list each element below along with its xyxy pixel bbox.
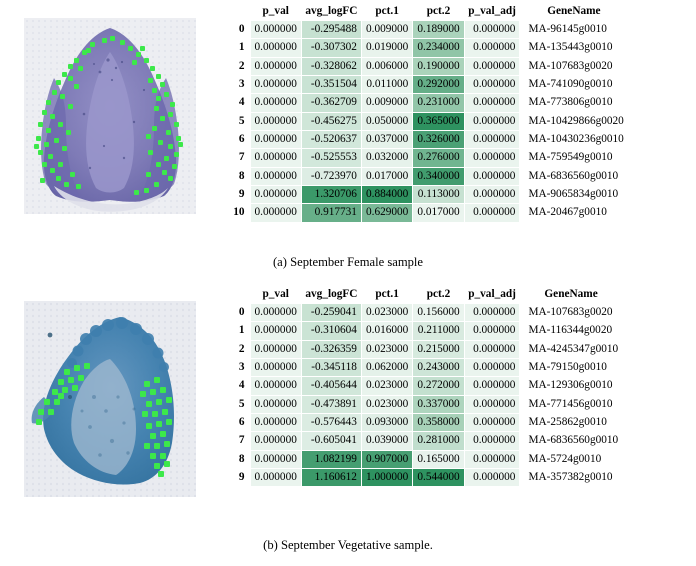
- cell-avg-logfc: -0.405644: [301, 377, 361, 395]
- row-index: 1: [220, 39, 250, 57]
- cell-genename: MA-135443g0010: [520, 39, 628, 57]
- cell-pct2: 0.243000: [413, 358, 464, 376]
- cell-p-val-adj: 0.000000: [464, 358, 520, 376]
- cell-p-val: 0.000000: [250, 322, 301, 340]
- cell-pct2: 0.272000: [413, 377, 464, 395]
- cell-p-val-adj: 0.000000: [464, 167, 520, 185]
- cell-pct1: 0.006000: [361, 57, 412, 75]
- col-header-pct1: pct.1: [361, 4, 412, 21]
- cell-pct1: 0.050000: [361, 112, 412, 130]
- cell-p-val: 0.000000: [250, 112, 301, 130]
- cell-genename: MA-759549g0010: [520, 149, 628, 167]
- row-index: 10: [220, 204, 250, 222]
- table-row: 70.000000-0.6050410.0390000.2810000.0000…: [220, 432, 622, 450]
- cell-avg-logfc: -0.576443: [301, 413, 361, 431]
- row-index: 4: [220, 377, 250, 395]
- cell-pct2: 0.234000: [413, 39, 464, 57]
- cell-pct2: 0.544000: [413, 468, 464, 486]
- cell-p-val: 0.000000: [250, 450, 301, 468]
- cell-p-val: 0.000000: [250, 57, 301, 75]
- cell-p-val-adj: 0.000000: [464, 204, 520, 222]
- cell-pct2: 0.365000: [413, 112, 464, 130]
- cell-avg-logfc: -0.351504: [301, 75, 361, 93]
- cell-avg-logfc: 1.082199: [301, 450, 361, 468]
- col-header-genename: GeneName: [520, 287, 622, 304]
- table-row: 70.000000-0.5255530.0320000.2760000.0000…: [220, 149, 628, 167]
- cell-pct1: 1.000000: [361, 468, 412, 486]
- table-row: 30.000000-0.3451180.0620000.2430000.0000…: [220, 358, 622, 376]
- row-index: 5: [220, 395, 250, 413]
- cell-pct2: 0.211000: [413, 322, 464, 340]
- table-body-vegetative: 00.000000-0.2590410.0230000.1560000.0000…: [220, 304, 622, 487]
- cell-p-val: 0.000000: [250, 395, 301, 413]
- cell-p-val-adj: 0.000000: [464, 21, 520, 39]
- cell-pct2: 0.276000: [413, 149, 464, 167]
- cell-avg-logfc: -0.525553: [301, 149, 361, 167]
- cell-pct1: 0.037000: [361, 130, 412, 148]
- cell-p-val-adj: 0.000000: [464, 340, 520, 358]
- row-index: 3: [220, 75, 250, 93]
- cell-p-val-adj: 0.000000: [464, 450, 520, 468]
- cell-pct1: 0.011000: [361, 75, 412, 93]
- figure-b-table-column: p_val avg_logFC pct.1 pct.2 p_val_adj Ge…: [220, 283, 696, 487]
- cell-avg-logfc: -0.362709: [301, 94, 361, 112]
- row-index: 1: [220, 322, 250, 340]
- table-row: 20.000000-0.3263590.0230000.2150000.0000…: [220, 340, 622, 358]
- row-index: 0: [220, 304, 250, 322]
- figure-b-image-column: [0, 283, 220, 497]
- cell-pct1: 0.023000: [361, 340, 412, 358]
- figure-a-caption: (a) September Female sample: [0, 247, 696, 270]
- cell-p-val-adj: 0.000000: [464, 377, 520, 395]
- cell-pct1: 0.032000: [361, 149, 412, 167]
- cell-pct1: 0.016000: [361, 322, 412, 340]
- cell-pct1: 0.009000: [361, 94, 412, 112]
- cell-p-val-adj: 0.000000: [464, 112, 520, 130]
- col-header-p-val-adj: p_val_adj: [464, 287, 520, 304]
- col-header-p-val-adj: p_val_adj: [464, 4, 520, 21]
- row-index: 7: [220, 149, 250, 167]
- cell-pct2: 0.017000: [413, 204, 464, 222]
- cell-pct2: 0.215000: [413, 340, 464, 358]
- cell-genename: MA-10429866g0020: [520, 112, 628, 130]
- table-row: 40.000000-0.4056440.0230000.2720000.0000…: [220, 377, 622, 395]
- cell-pct2: 0.337000: [413, 395, 464, 413]
- cell-p-val: 0.000000: [250, 130, 301, 148]
- cell-p-val-adj: 0.000000: [464, 432, 520, 450]
- cell-pct1: 0.019000: [361, 39, 412, 57]
- cell-avg-logfc: -0.295488: [301, 21, 361, 39]
- dataframe-table-vegetative: p_val avg_logFC pct.1 pct.2 p_val_adj Ge…: [220, 287, 622, 487]
- cell-p-val: 0.000000: [250, 377, 301, 395]
- dataframe-table-female: p_val avg_logFC pct.1 pct.2 p_val_adj Ge…: [220, 4, 628, 223]
- cell-p-val-adj: 0.000000: [464, 75, 520, 93]
- histology-micrograph-female: [24, 18, 196, 214]
- cell-p-val: 0.000000: [250, 468, 301, 486]
- row-index: 8: [220, 450, 250, 468]
- cell-genename: MA-116344g0020: [520, 322, 622, 340]
- col-header-avg-logfc: avg_logFC: [301, 287, 361, 304]
- cell-p-val: 0.000000: [250, 94, 301, 112]
- table-row: 50.000000-0.4562750.0500000.3650000.0000…: [220, 112, 628, 130]
- table-row: 10.000000-0.3106040.0160000.2110000.0000…: [220, 322, 622, 340]
- cell-genename: MA-9065834g0010: [520, 185, 628, 203]
- cell-p-val: 0.000000: [250, 39, 301, 57]
- table-row: 100.0000000.9177310.6290000.0170000.0000…: [220, 204, 628, 222]
- cell-genename: MA-25862g0010: [520, 413, 622, 431]
- cell-pct2: 0.358000: [413, 413, 464, 431]
- cell-pct2: 0.189000: [413, 21, 464, 39]
- cell-avg-logfc: 1.320706: [301, 185, 361, 203]
- cell-pct2: 0.326000: [413, 130, 464, 148]
- cell-genename: MA-6836560g0010: [520, 167, 628, 185]
- cell-genename: MA-20467g0010: [520, 204, 628, 222]
- table-row: 80.000000-0.7239700.0170000.3400000.0000…: [220, 167, 628, 185]
- table-row: 80.0000001.0821990.9070000.1650000.00000…: [220, 450, 622, 468]
- cell-pct1: 0.023000: [361, 304, 412, 322]
- cell-pct2: 0.156000: [413, 304, 464, 322]
- cell-pct1: 0.009000: [361, 21, 412, 39]
- cell-avg-logfc: 1.160612: [301, 468, 361, 486]
- cell-genename: MA-4245347g0010: [520, 340, 622, 358]
- cell-avg-logfc: -0.259041: [301, 304, 361, 322]
- cell-avg-logfc: -0.723970: [301, 167, 361, 185]
- cell-pct1: 0.629000: [361, 204, 412, 222]
- cell-pct1: 0.017000: [361, 167, 412, 185]
- cell-pct2: 0.281000: [413, 432, 464, 450]
- table-header-row: p_val avg_logFC pct.1 pct.2 p_val_adj Ge…: [220, 4, 628, 21]
- cell-pct2: 0.292000: [413, 75, 464, 93]
- cell-genename: MA-107683g0020: [520, 304, 622, 322]
- cell-p-val: 0.000000: [250, 413, 301, 431]
- cell-p-val: 0.000000: [250, 21, 301, 39]
- table-row: 60.000000-0.5206370.0370000.3260000.0000…: [220, 130, 628, 148]
- cell-genename: MA-773806g0010: [520, 94, 628, 112]
- row-index: 3: [220, 358, 250, 376]
- cell-avg-logfc: -0.456275: [301, 112, 361, 130]
- cell-pct1: 0.062000: [361, 358, 412, 376]
- cell-p-val: 0.000000: [250, 204, 301, 222]
- col-header-pct2: pct.2: [413, 4, 464, 21]
- row-index: 4: [220, 94, 250, 112]
- row-index: 2: [220, 340, 250, 358]
- table-row: 00.000000-0.2954880.0090000.1890000.0000…: [220, 21, 628, 39]
- cell-genename: MA-79150g0010: [520, 358, 622, 376]
- cell-p-val: 0.000000: [250, 75, 301, 93]
- cell-pct1: 0.907000: [361, 450, 412, 468]
- cell-p-val: 0.000000: [250, 340, 301, 358]
- table-body-female: 00.000000-0.2954880.0090000.1890000.0000…: [220, 21, 628, 223]
- figure-a-image-column: [0, 0, 220, 214]
- cell-p-val: 0.000000: [250, 304, 301, 322]
- row-index: 7: [220, 432, 250, 450]
- table-row: 50.000000-0.4738910.0230000.3370000.0000…: [220, 395, 622, 413]
- table-row: 40.000000-0.3627090.0090000.2310000.0000…: [220, 94, 628, 112]
- row-index: 6: [220, 413, 250, 431]
- cell-p-val: 0.000000: [250, 185, 301, 203]
- cell-pct2: 0.340000: [413, 167, 464, 185]
- cell-avg-logfc: 0.917731: [301, 204, 361, 222]
- table-row: 20.000000-0.3280620.0060000.1900000.0000…: [220, 57, 628, 75]
- col-header-pct2: pct.2: [413, 287, 464, 304]
- cell-pct1: 0.023000: [361, 395, 412, 413]
- cell-genename: MA-6836560g0010: [520, 432, 622, 450]
- cell-p-val-adj: 0.000000: [464, 57, 520, 75]
- cell-avg-logfc: -0.328062: [301, 57, 361, 75]
- col-header-p-val: p_val: [250, 4, 301, 21]
- cell-p-val-adj: 0.000000: [464, 185, 520, 203]
- cell-avg-logfc: -0.310604: [301, 322, 361, 340]
- histology-micrograph-vegetative: [24, 301, 196, 497]
- row-index: 0: [220, 21, 250, 39]
- table-row: 00.000000-0.2590410.0230000.1560000.0000…: [220, 304, 622, 322]
- table-row: 10.000000-0.3073020.0190000.2340000.0000…: [220, 39, 628, 57]
- figure-a-table-column: p_val avg_logFC pct.1 pct.2 p_val_adj Ge…: [220, 0, 696, 223]
- cell-genename: MA-357382g0010: [520, 468, 622, 486]
- cell-genename: MA-10430236g0010: [520, 130, 628, 148]
- cell-p-val-adj: 0.000000: [464, 304, 520, 322]
- col-header-avg-logfc: avg_logFC: [301, 4, 361, 21]
- row-index: 2: [220, 57, 250, 75]
- cell-avg-logfc: -0.307302: [301, 39, 361, 57]
- cell-avg-logfc: -0.326359: [301, 340, 361, 358]
- cell-genename: MA-771456g0010: [520, 395, 622, 413]
- cell-pct1: 0.023000: [361, 377, 412, 395]
- cell-p-val-adj: 0.000000: [464, 149, 520, 167]
- cell-p-val-adj: 0.000000: [464, 413, 520, 431]
- cell-pct1: 0.039000: [361, 432, 412, 450]
- cell-avg-logfc: -0.473891: [301, 395, 361, 413]
- figure-b: p_val avg_logFC pct.1 pct.2 p_val_adj Ge…: [0, 283, 696, 566]
- cell-p-val-adj: 0.000000: [464, 39, 520, 57]
- cell-p-val-adj: 0.000000: [464, 130, 520, 148]
- cell-pct2: 0.113000: [413, 185, 464, 203]
- col-header-p-val: p_val: [250, 287, 301, 304]
- cell-p-val-adj: 0.000000: [464, 94, 520, 112]
- cell-avg-logfc: -0.520637: [301, 130, 361, 148]
- row-index: 5: [220, 112, 250, 130]
- cell-pct2: 0.231000: [413, 94, 464, 112]
- row-index: 9: [220, 185, 250, 203]
- col-header-index: [220, 4, 250, 21]
- col-header-pct1: pct.1: [361, 287, 412, 304]
- row-index: 9: [220, 468, 250, 486]
- table-row: 90.0000001.3207060.8840000.1130000.00000…: [220, 185, 628, 203]
- table-row: 90.0000001.1606121.0000000.5440000.00000…: [220, 468, 622, 486]
- cell-p-val: 0.000000: [250, 358, 301, 376]
- cell-genename: MA-5724g0010: [520, 450, 622, 468]
- row-index: 6: [220, 130, 250, 148]
- cell-p-val: 0.000000: [250, 149, 301, 167]
- cell-pct2: 0.165000: [413, 450, 464, 468]
- table-row: 30.000000-0.3515040.0110000.2920000.0000…: [220, 75, 628, 93]
- cell-p-val-adj: 0.000000: [464, 468, 520, 486]
- cell-pct1: 0.093000: [361, 413, 412, 431]
- cell-p-val-adj: 0.000000: [464, 322, 520, 340]
- figure-b-caption: (b) September Vegetative sample.: [0, 530, 696, 553]
- col-header-index: [220, 287, 250, 304]
- cell-p-val: 0.000000: [250, 167, 301, 185]
- table-row: 60.000000-0.5764430.0930000.3580000.0000…: [220, 413, 622, 431]
- cell-avg-logfc: -0.605041: [301, 432, 361, 450]
- cell-genename: MA-107683g0020: [520, 57, 628, 75]
- cell-genename: MA-129306g0010: [520, 377, 622, 395]
- row-index: 8: [220, 167, 250, 185]
- cell-genename: MA-96145g0010: [520, 21, 628, 39]
- cell-p-val: 0.000000: [250, 432, 301, 450]
- cell-pct2: 0.190000: [413, 57, 464, 75]
- cell-p-val-adj: 0.000000: [464, 395, 520, 413]
- figure-a: p_val avg_logFC pct.1 pct.2 p_val_adj Ge…: [0, 0, 696, 283]
- col-header-genename: GeneName: [520, 4, 628, 21]
- cell-pct1: 0.884000: [361, 185, 412, 203]
- cell-genename: MA-741090g0010: [520, 75, 628, 93]
- table-header-row: p_val avg_logFC pct.1 pct.2 p_val_adj Ge…: [220, 287, 622, 304]
- cell-avg-logfc: -0.345118: [301, 358, 361, 376]
